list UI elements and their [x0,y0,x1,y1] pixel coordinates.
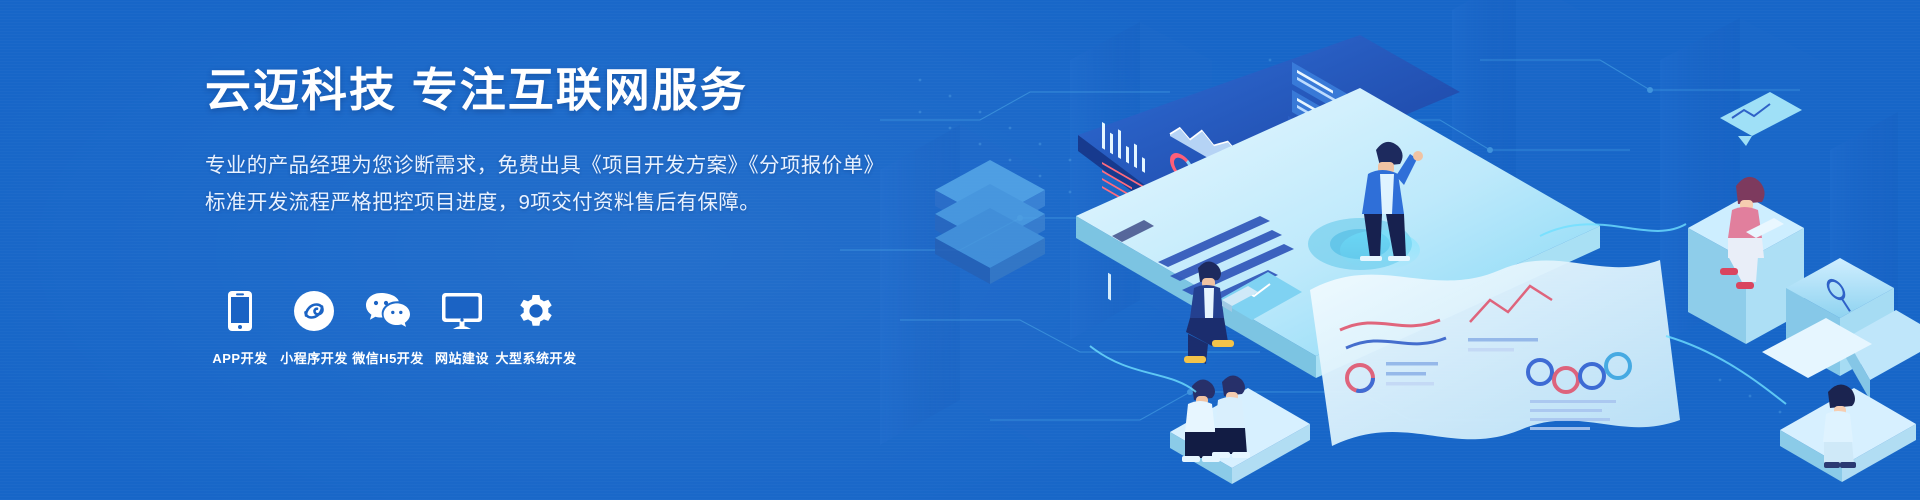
mini-program-icon [291,288,337,334]
person-standing-right [1823,384,1856,468]
monitor-icon [439,288,485,334]
service-item-wechat-h5[interactable]: 微信H5开发 [351,288,425,367]
service-item-large-system[interactable]: 大型系统开发 [499,288,573,367]
page-title: 云迈科技 专注互联网服务 [205,62,905,120]
service-label: 大型系统开发 [496,348,577,367]
subtitle-line-2: 标准开发流程严格把控项目进度，9项交付资料售后有保障。 [205,184,905,222]
service-label: 微信H5开发 [352,348,424,367]
isometric-tech-illustration [840,0,1920,500]
service-item-website[interactable]: 网站建设 [425,288,499,367]
subtitle-line-1: 专业的产品经理为您诊断需求，免费出具《项目开发方案》《分项报价单》 [205,147,905,185]
service-label: APP开发 [212,348,267,367]
wechat-icon [365,288,411,334]
gear-icon [513,288,559,334]
banner-copy: 云迈科技 专注互联网服务 专业的产品经理为您诊断需求，免费出具《项目开发方案》《… [205,62,905,222]
data-sheet-wave [1310,260,1680,446]
service-item-mini-program[interactable]: 小程序开发 [277,288,351,367]
service-label: 网站建设 [435,348,489,367]
service-item-app[interactable]: APP开发 [203,288,277,367]
banner-subtitle: 专业的产品经理为您诊断需求，免费出具《项目开发方案》《分项报价单》 标准开发流程… [205,147,905,223]
mobile-phone-icon [217,288,263,334]
service-list: APP开发 小程序开发 [203,288,573,367]
promo-banner: 云迈科技 专注互联网服务 专业的产品经理为您诊断需求，免费出具《项目开发方案》《… [0,0,1920,500]
service-label: 小程序开发 [280,348,348,367]
